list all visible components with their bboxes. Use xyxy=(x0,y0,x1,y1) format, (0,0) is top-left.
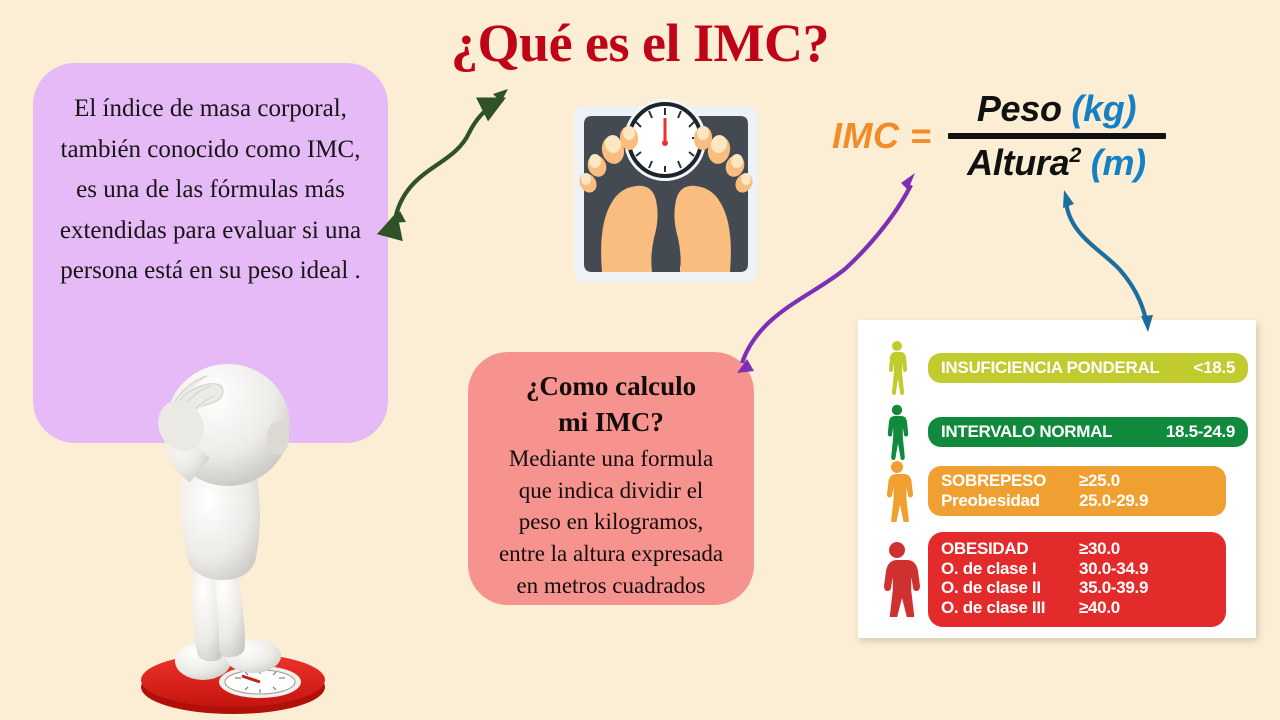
arrow-formula-to-table-icon xyxy=(1040,180,1180,340)
obesity-class2-value: 35.0-39.9 xyxy=(1073,578,1199,598)
preobesity-value: 25.0-29.9 xyxy=(1073,491,1199,511)
obesity-value: ≥30.0 xyxy=(1073,539,1199,559)
obesity-line-3: O. de clase II 35.0-39.9 xyxy=(941,578,1213,598)
question-heading: ¿Como calculo mi IMC? xyxy=(480,368,742,441)
classification-row-normal: INTERVALO NORMAL 18.5-24.9 xyxy=(866,404,1248,460)
question-body-line3: peso en kilogramos, xyxy=(480,506,742,538)
question-heading-line2: mi IMC? xyxy=(480,404,742,440)
person-silhouette-obese-icon xyxy=(866,541,928,617)
obesity-class1-label: O. de clase I xyxy=(941,559,1073,579)
question-body-line5: en metros cuadrados xyxy=(480,570,742,602)
numerator-unit: (kg) xyxy=(1071,88,1136,129)
preobesity-label: Preobesidad xyxy=(941,491,1073,511)
underweight-line: INSUFICIENCIA PONDERAL <18.5 xyxy=(941,358,1235,378)
formula-fraction: Peso (kg) Altura2 (m) xyxy=(948,88,1166,184)
obesity-class2-label: O. de clase II xyxy=(941,578,1073,598)
badge-overweight: SOBREPESO ≥25.0 Preobesidad 25.0-29.9 xyxy=(928,466,1226,516)
fraction-bar xyxy=(948,133,1166,139)
underweight-label: INSUFICIENCIA PONDERAL xyxy=(941,358,1160,378)
obesity-line-1: OBESIDAD ≥30.0 xyxy=(941,539,1213,559)
formula-lhs: IMC = xyxy=(832,115,932,157)
formula-denominator: Altura2 (m) xyxy=(961,142,1152,184)
overweight-line-2: Preobesidad 25.0-29.9 xyxy=(941,491,1213,511)
arrow-question-to-formula-icon xyxy=(725,165,935,385)
formula-numerator: Peso (kg) xyxy=(971,88,1142,130)
denominator-unit: (m) xyxy=(1091,142,1146,183)
overweight-value: ≥25.0 xyxy=(1073,471,1199,491)
question-callout-box: ¿Como calculo mi IMC? Mediante una formu… xyxy=(468,352,754,605)
normal-value: 18.5-24.9 xyxy=(1152,422,1235,442)
badge-normal: INTERVALO NORMAL 18.5-24.9 xyxy=(928,417,1248,448)
denominator-term: Altura xyxy=(967,142,1069,183)
badge-obesity: OBESIDAD ≥30.0 O. de clase I 30.0-34.9 O… xyxy=(928,532,1226,627)
normal-line: INTERVALO NORMAL 18.5-24.9 xyxy=(941,422,1235,442)
obesity-label: OBESIDAD xyxy=(941,539,1073,559)
arrow-definition-to-title-icon xyxy=(375,75,545,245)
denominator-exponent: 2 xyxy=(1069,142,1081,167)
badge-underweight: INSUFICIENCIA PONDERAL <18.5 xyxy=(928,353,1248,384)
obesity-line-4: O. de clase III ≥40.0 xyxy=(941,598,1213,618)
definition-text: El índice de masa corporal, también cono… xyxy=(55,89,366,292)
numerator-term: Peso xyxy=(977,88,1062,129)
question-heading-line1: ¿Como calculo xyxy=(480,368,742,404)
question-body-line1: Mediante una formula xyxy=(480,443,742,475)
person-silhouette-overweight-icon xyxy=(866,460,928,522)
person-silhouette-normal-icon xyxy=(866,404,928,460)
obesity-class1-value: 30.0-34.9 xyxy=(1073,559,1199,579)
obesity-class3-label: O. de clase III xyxy=(941,598,1073,618)
question-body-line4: entre la altura expresada xyxy=(480,538,742,570)
obesity-line-2: O. de clase I 30.0-34.9 xyxy=(941,559,1213,579)
underweight-value: <18.5 xyxy=(1179,358,1235,378)
overweight-label: SOBREPESO xyxy=(941,471,1073,491)
slide-canvas: ¿Qué es el IMC? El índice de masa corpor… xyxy=(0,0,1280,720)
character-on-scale-illustration xyxy=(95,360,395,720)
question-body-line2: que indica dividir el xyxy=(480,475,742,507)
question-body: Mediante una formula que indica dividir … xyxy=(480,443,742,602)
obesity-class3-value: ≥40.0 xyxy=(1073,598,1199,618)
normal-label: INTERVALO NORMAL xyxy=(941,422,1112,442)
classification-row-overweight: SOBREPESO ≥25.0 Preobesidad 25.0-29.9 xyxy=(866,460,1226,522)
overweight-line-1: SOBREPESO ≥25.0 xyxy=(941,471,1213,491)
classification-row-obesity: OBESIDAD ≥30.0 O. de clase I 30.0-34.9 O… xyxy=(866,532,1226,627)
